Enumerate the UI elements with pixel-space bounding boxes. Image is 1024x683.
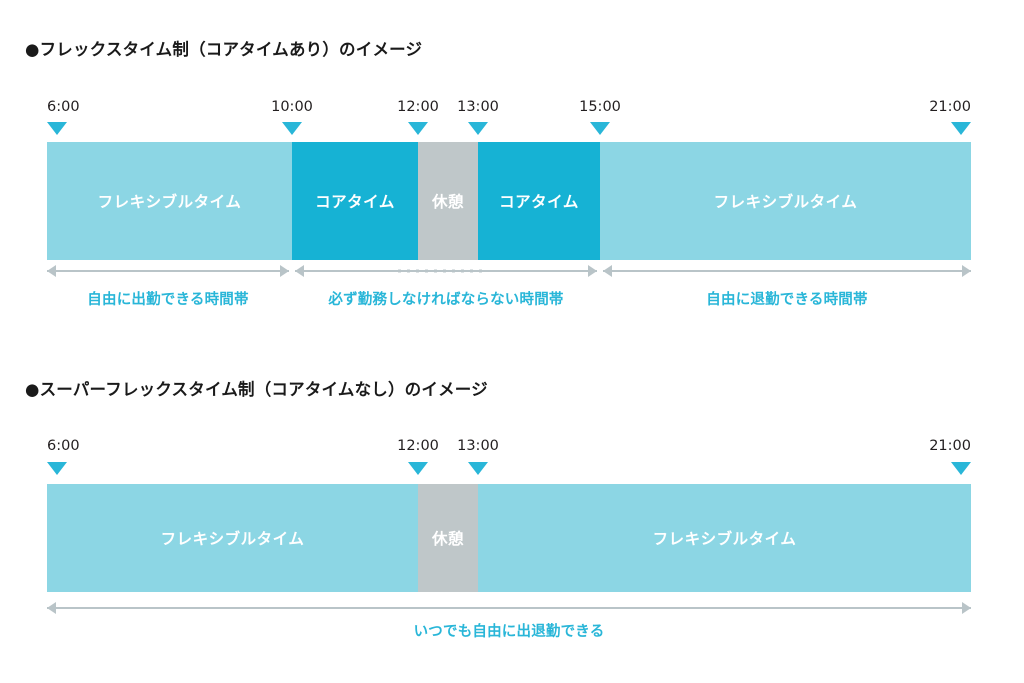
timeline-segment-core: コアタイム [292,142,418,260]
timeline-segment-break: 休憩 [418,484,478,592]
time-tick-label: 10:00 [271,99,313,115]
range-arrow-line [47,607,971,609]
time-marker-triangle-icon [468,122,488,135]
time-tick-label: 6:00 [47,438,80,454]
range-caption-label: 自由に退勤できる時間帯 [706,288,867,309]
time-marker-triangle-icon [408,462,428,475]
time-marker-triangle-icon [408,122,428,135]
diagram-canvas: ●フレックスタイム制（コアタイムあり）のイメージ 6:0010:0012:001… [0,0,1024,683]
time-marker-triangle-icon [590,122,610,135]
time-marker-triangle-icon [282,122,302,135]
arrow-head-left-icon [47,265,56,277]
arrow-head-left-icon [295,265,304,277]
arrow-head-left-icon [47,602,56,614]
timeline-segment-label: フレキシブルタイム [714,190,858,212]
section-2-timeline-bar: フレキシブルタイム休憩フレキシブルタイム [0,484,1024,592]
time-tick-label: 12:00 [397,99,439,115]
timeline-segment-flexible: フレキシブルタイム [600,142,971,260]
section-2-heading: ●スーパーフレックスタイム制（コアタイムなし）のイメージ [25,376,488,400]
time-tick-label: 15:00 [579,99,621,115]
timeline-segment-label: フレキシブルタイム [161,527,305,549]
range-arrow [47,264,289,278]
timeline-segment-label: 休憩 [432,190,464,212]
arrow-head-left-icon [603,265,612,277]
timeline-segment-label: 休憩 [432,527,464,549]
timeline-segment-core: コアタイム [478,142,600,260]
arrow-head-right-icon [280,265,289,277]
timeline-segment-label: コアタイム [499,190,579,212]
range-arrow-line [47,270,289,272]
range-arrow [295,264,597,278]
range-arrow-line [603,270,971,272]
time-marker-triangle-icon [951,462,971,475]
time-marker-triangle-icon [47,122,67,135]
arrow-head-right-icon [962,602,971,614]
timeline-segment-label: コアタイム [315,190,395,212]
range-arrow [47,601,971,615]
timeline-segment-break: 休憩 [418,142,478,260]
section-1-heading: ●フレックスタイム制（コアタイムあり）のイメージ [25,36,422,60]
timeline-segment-flexible: フレキシブルタイム [47,142,292,260]
time-marker-triangle-icon [47,462,67,475]
range-arrow-dotted-overlay [395,269,486,273]
time-marker-triangle-icon [951,122,971,135]
range-arrow [603,264,971,278]
arrow-head-right-icon [588,265,597,277]
timeline-segment-flexible: フレキシブルタイム [478,484,971,592]
time-tick-label: 12:00 [397,438,439,454]
timeline-segment-flexible: フレキシブルタイム [47,484,418,592]
timeline-segment-label: フレキシブルタイム [98,190,242,212]
time-tick-label: 13:00 [457,438,499,454]
range-caption-label: 必ず勤務しなければならない時間帯 [328,288,563,309]
time-marker-triangle-icon [468,462,488,475]
range-caption-label: いつでも自由に出退勤できる [414,620,605,641]
time-tick-label: 6:00 [47,99,80,115]
time-tick-label: 21:00 [929,438,971,454]
time-tick-label: 13:00 [457,99,499,115]
arrow-head-right-icon [962,265,971,277]
section-1-timeline-bar: フレキシブルタイムコアタイム休憩コアタイムフレキシブルタイム [0,142,1024,260]
time-tick-label: 21:00 [929,99,971,115]
range-caption-label: 自由に出勤できる時間帯 [87,288,248,309]
timeline-segment-label: フレキシブルタイム [653,527,797,549]
